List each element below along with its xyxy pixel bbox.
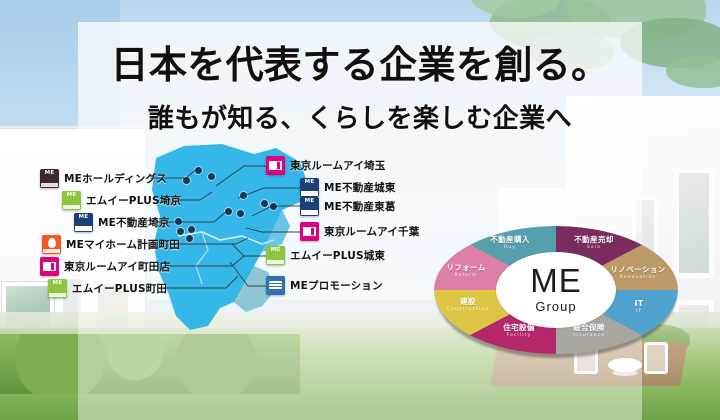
map-dot [225, 208, 232, 215]
callout-me-realestate-tokatsu[interactable]: ME ME不動産東葛 [300, 197, 396, 216]
callout-me-plus-saikyo[interactable]: ME エムイーPLUS埼京 [62, 191, 181, 210]
map-dot [177, 228, 184, 235]
me-plus-green-icon: ME [48, 279, 67, 298]
callout-roomeye-saitama[interactable]: 東京ルームアイ埼玉 [266, 156, 385, 175]
map-dot [261, 200, 268, 207]
callout-roomeye-chiba[interactable]: 東京ルームアイ千葉 [300, 222, 419, 241]
me-plus-green-icon: ME [266, 246, 285, 265]
me-realestate-navy-icon: ME [300, 178, 319, 197]
map-dot [186, 235, 193, 242]
callout-roomeye-machida[interactable]: 東京ルームアイ町田店 [40, 257, 170, 276]
callout-me-myhome-machida[interactable]: MEマイホーム計画町田 [42, 235, 180, 254]
logo-title: ME [530, 266, 582, 296]
callout-label: ME不動産城東 [324, 180, 396, 195]
callout-label: エムイーPLUS町田 [72, 281, 167, 296]
page-title: 日本を代表する企業を創る。 [0, 34, 720, 89]
callout-me-realestate-saikyo[interactable]: ME ME不動産埼京 [74, 213, 170, 232]
callout-label: 東京ルームアイ町田店 [64, 259, 170, 274]
map-dot [188, 226, 195, 233]
me-dark-icon: ME [40, 169, 59, 188]
callout-label: MEマイホーム計画町田 [66, 237, 180, 252]
me-realestate-navy-icon: ME [300, 197, 319, 216]
map-dot [270, 203, 277, 210]
me-group-wheel: 不動産購入 Buy 不動産売却 Sale リノベーション Renovation … [430, 222, 682, 362]
me-promotion-blue-icon [266, 276, 285, 295]
callout-label: 東京ルームアイ千葉 [324, 224, 419, 239]
callout-label: MEホールディングス [64, 171, 167, 186]
logo-subtitle: Group [535, 299, 576, 314]
callout-label: ME不動産埼京 [98, 215, 170, 230]
me-realestate-navy-icon: ME [74, 213, 93, 232]
page-subtitle: 誰もが知る、くらしを楽しむ企業へ [0, 98, 720, 135]
callout-label: エムイーPLUS埼京 [86, 193, 181, 208]
callout-label: 東京ルームアイ埼玉 [290, 158, 385, 173]
me-group-logo: ME Group [496, 252, 616, 328]
map-dot [237, 210, 244, 217]
map-dot [195, 167, 202, 174]
callout-me-promotion[interactable]: MEプロモーション [266, 276, 383, 295]
map-dot [183, 177, 190, 184]
callout-label: ME不動産東葛 [324, 199, 396, 214]
me-plus-green-icon: ME [62, 191, 81, 210]
map-dot [240, 192, 247, 199]
callout-me-realestate-joto[interactable]: ME ME不動産城東 [300, 178, 396, 197]
myhome-orange-icon [42, 235, 61, 254]
callout-label: エムイーPLUS城東 [290, 248, 385, 263]
map-dot [208, 173, 215, 180]
callout-label: MEプロモーション [290, 278, 383, 293]
callout-me-holdings[interactable]: ME MEホールディングス [40, 169, 167, 188]
roomeye-magenta-icon [266, 156, 285, 175]
callout-me-plus-joto[interactable]: ME エムイーPLUS城東 [266, 246, 385, 265]
map-dot [175, 218, 182, 225]
roomeye-magenta-icon [40, 257, 59, 276]
callout-me-plus-machida[interactable]: ME エムイーPLUS町田 [48, 279, 167, 298]
hero-banner: 日本を代表する企業を創る。 誰もが知る、くらしを楽しむ企業へ [0, 0, 720, 420]
roomeye-magenta-icon [300, 222, 319, 241]
